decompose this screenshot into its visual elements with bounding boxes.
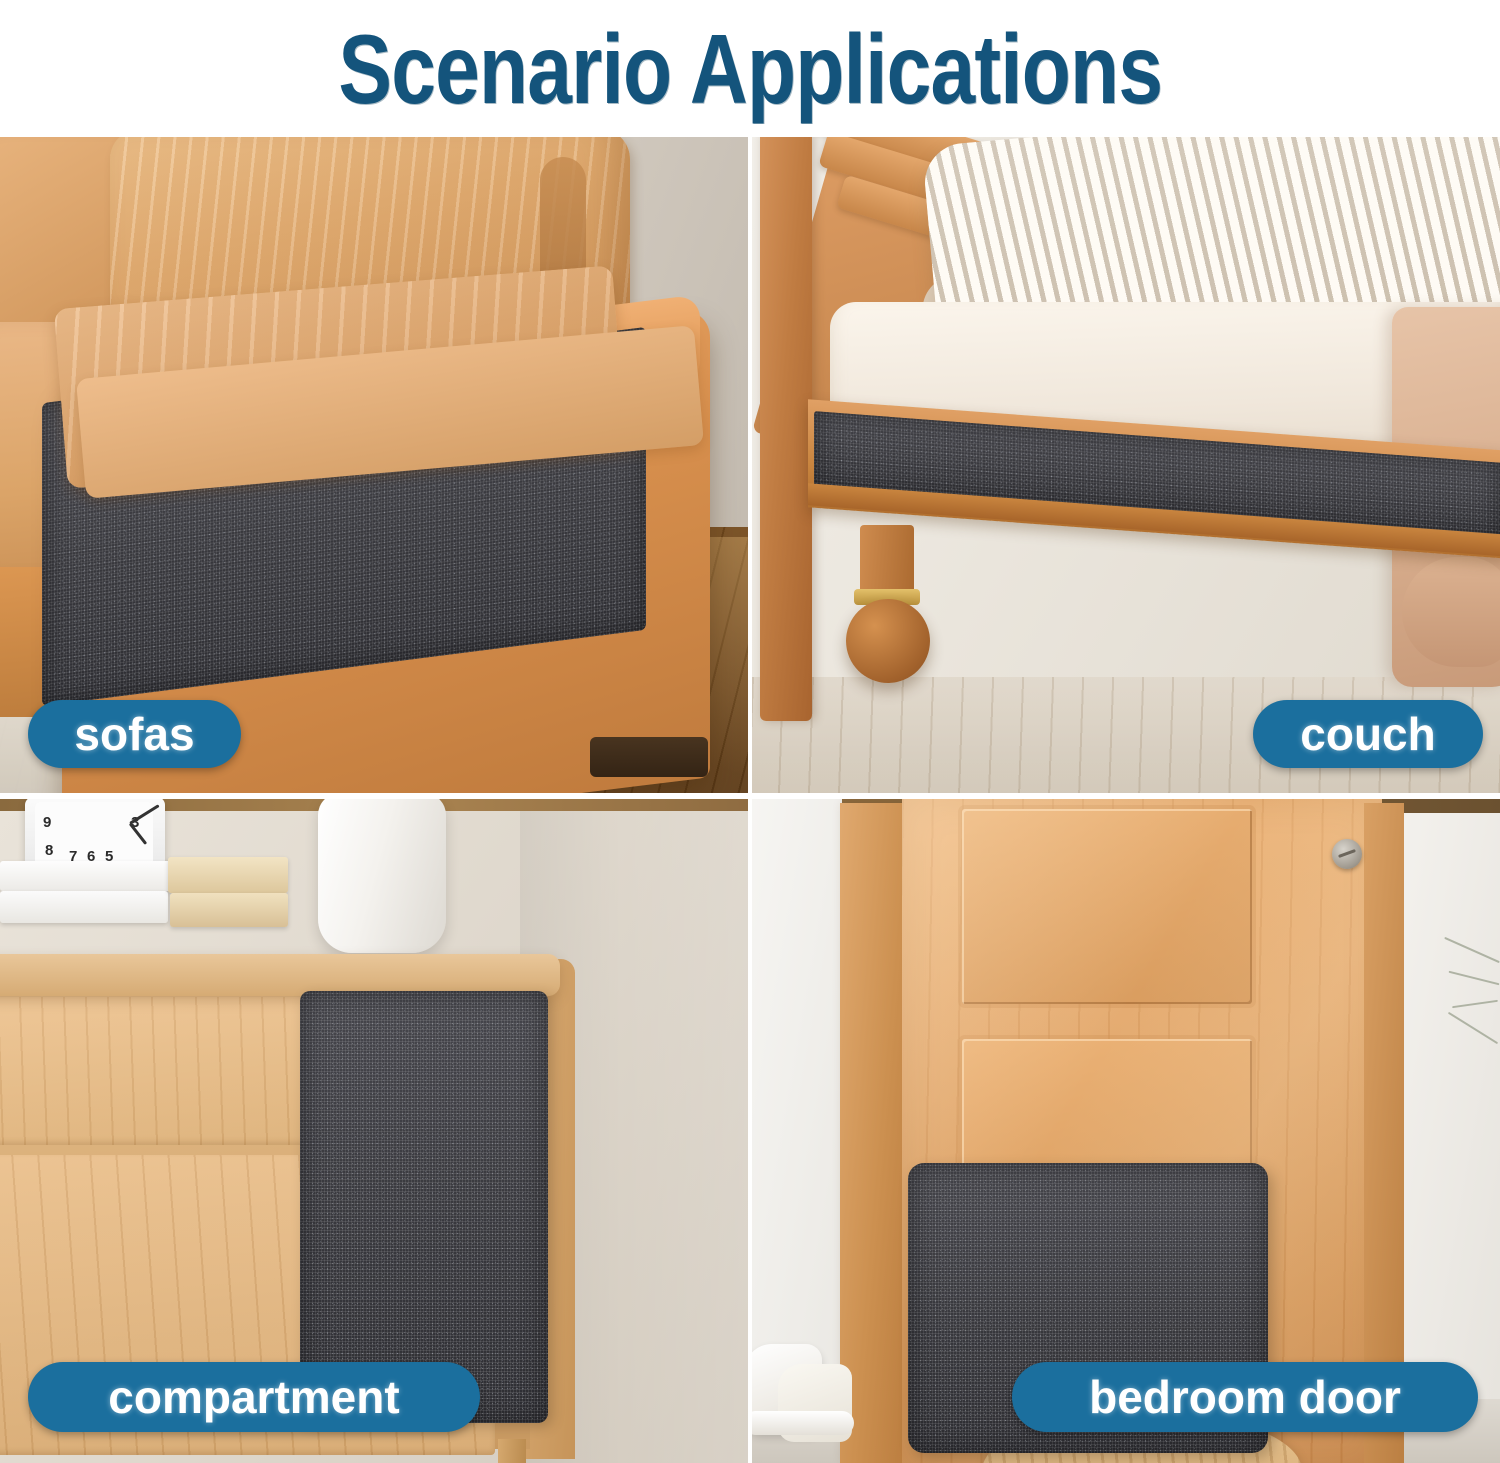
white-vase	[318, 799, 446, 953]
headboard-post	[760, 137, 812, 721]
stacked-book	[0, 891, 168, 923]
scratching-mat-nightstand	[300, 991, 548, 1423]
panel-label-couch: couch	[1253, 700, 1483, 768]
stacked-book	[168, 857, 288, 893]
bed-leg-shaft	[860, 525, 914, 597]
clock-numeral: 9	[43, 814, 51, 831]
scenario-panel-sofas[interactable]	[0, 137, 748, 793]
scenario-panel-couch[interactable]	[752, 137, 1500, 793]
title-bar: Scenario Applications	[0, 0, 1500, 137]
stacked-book	[0, 861, 172, 891]
sofa-foot	[590, 737, 708, 777]
clock-numeral: 8	[45, 842, 53, 859]
panel-label-sofas: sofas	[28, 700, 241, 768]
plant-branch	[1442, 919, 1500, 1119]
stacked-book	[170, 893, 288, 927]
panel-label-bedroom-door: bedroom door	[1012, 1362, 1478, 1432]
screw-icon	[1332, 839, 1362, 869]
panel-label-compartment: compartment	[28, 1362, 480, 1432]
page-title: Scenario Applications	[338, 20, 1162, 118]
scenario-grid: 9 8 7 6 5 3	[0, 137, 1500, 1463]
sneaker-sole	[752, 1411, 854, 1435]
bed-leg-ball	[846, 599, 930, 683]
product-scenario-infographic: Scenario Applications	[0, 0, 1500, 1463]
nightstand-leg	[498, 1439, 526, 1463]
nightstand-top-surface	[0, 954, 560, 996]
